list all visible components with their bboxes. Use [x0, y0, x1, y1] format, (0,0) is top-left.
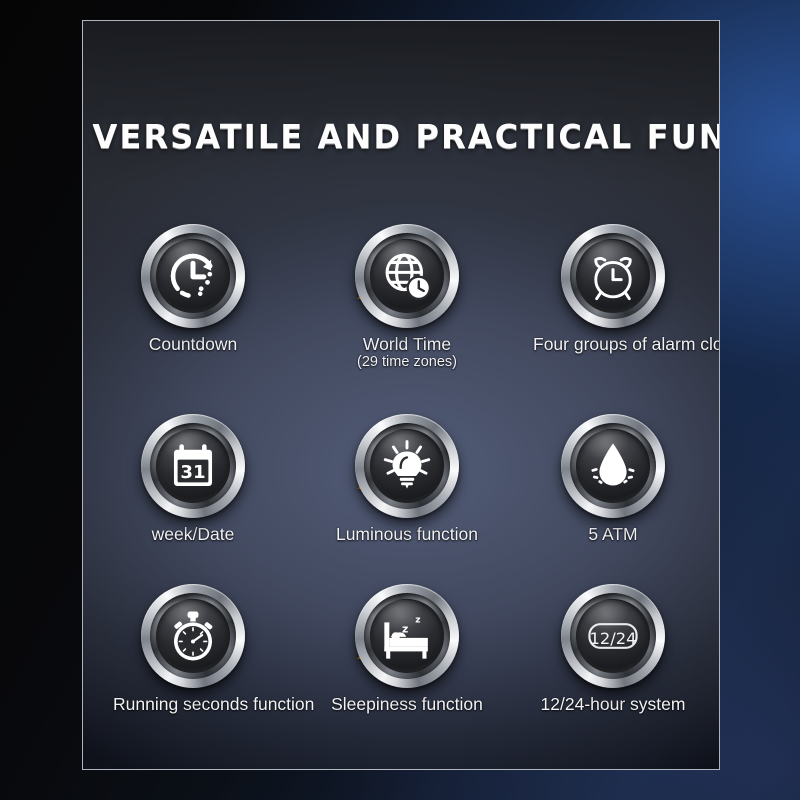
badge-hour-format[interactable]: 12/24 [561, 584, 665, 688]
badge-running-seconds[interactable] [141, 584, 245, 688]
stopwatch-icon [164, 607, 222, 665]
badge-face: 12/24 [576, 599, 650, 673]
feature-item-world-time[interactable]: World Time (29 time zones) [327, 217, 487, 371]
feature-label-text: 5 ATM [588, 524, 637, 544]
sleep-z-big: z [415, 615, 420, 625]
feature-label-text: Countdown [149, 334, 238, 354]
feature-row-2: 31 week/Date [83, 407, 719, 577]
feature-label: World Time (29 time zones) [327, 335, 487, 371]
hour-format-text: 12/24 [590, 629, 637, 648]
badge-face: 31 [156, 429, 230, 503]
feature-label-text: Sleepiness function [331, 694, 483, 714]
feature-item-alarm-clocks[interactable]: Four groups of alarm clocks [533, 217, 693, 354]
feature-label: Running seconds function [113, 695, 273, 714]
alarm-clock-icon [584, 247, 642, 305]
badge-water-resistance[interactable] [561, 414, 665, 518]
feature-label: 12/24-hour system [533, 695, 693, 714]
feature-item-water-resistance[interactable]: 5 ATM [533, 407, 693, 544]
feature-item-hour-format[interactable]: 12/24 12/24-hour system [533, 577, 693, 714]
badge-alarm-clocks[interactable] [561, 224, 665, 328]
badge-week-date[interactable]: 31 [141, 414, 245, 518]
promo-graphic: VERSATILE AND PRACTICAL FUNCTIONS [0, 0, 800, 800]
feature-label: Four groups of alarm clocks [533, 335, 693, 354]
feature-row-3: Running seconds function [83, 577, 719, 747]
feature-label: Sleepiness function [327, 695, 487, 714]
feature-label: Luminous function [327, 525, 487, 544]
water-drop-icon [584, 437, 642, 495]
feature-item-sleepiness[interactable]: z z Sleepiness function [327, 577, 487, 714]
feature-label-text: week/Date [152, 524, 235, 544]
badge-face: z z [370, 599, 444, 673]
twelve-twentyfour-icon: 12/24 [584, 607, 642, 665]
feature-label: week/Date [113, 525, 273, 544]
page-title: VERSATILE AND PRACTICAL FUNCTIONS [93, 117, 710, 156]
badge-world-time[interactable] [355, 224, 459, 328]
feature-item-countdown[interactable]: Countdown [113, 217, 273, 354]
sleep-z-small: z [402, 622, 408, 635]
feature-item-week-date[interactable]: 31 week/Date [113, 407, 273, 544]
badge-face [370, 239, 444, 313]
badge-face [576, 239, 650, 313]
feature-label: 5 ATM [533, 525, 693, 544]
badge-face [156, 599, 230, 673]
feature-label-text: World Time [363, 334, 451, 354]
feature-sublabel-text: (29 time zones) [327, 354, 487, 371]
badge-face [156, 239, 230, 313]
feature-item-luminous[interactable]: Luminous function [327, 407, 487, 544]
badge-luminous[interactable] [355, 414, 459, 518]
badge-face [370, 429, 444, 503]
bed-sleep-icon: z z [378, 607, 436, 665]
countdown-timer-icon [164, 247, 222, 305]
globe-clock-icon [378, 247, 436, 305]
calendar-31-icon: 31 [164, 437, 222, 495]
badge-sleepiness[interactable]: z z [355, 584, 459, 688]
feature-label-text: Luminous function [336, 524, 478, 544]
feature-row-1: Countdown [83, 217, 719, 387]
feature-label-text: Running seconds function [113, 694, 314, 714]
feature-label-text: Four groups of alarm clocks [533, 334, 720, 354]
feature-label-text: 12/24-hour system [541, 694, 686, 714]
lightbulb-icon [378, 437, 436, 495]
feature-item-running-seconds[interactable]: Running seconds function [113, 577, 273, 714]
badge-countdown[interactable] [141, 224, 245, 328]
badge-face [576, 429, 650, 503]
feature-label: Countdown [113, 335, 273, 354]
feature-panel: VERSATILE AND PRACTICAL FUNCTIONS [82, 20, 720, 770]
calendar-day-number: 31 [180, 462, 205, 483]
